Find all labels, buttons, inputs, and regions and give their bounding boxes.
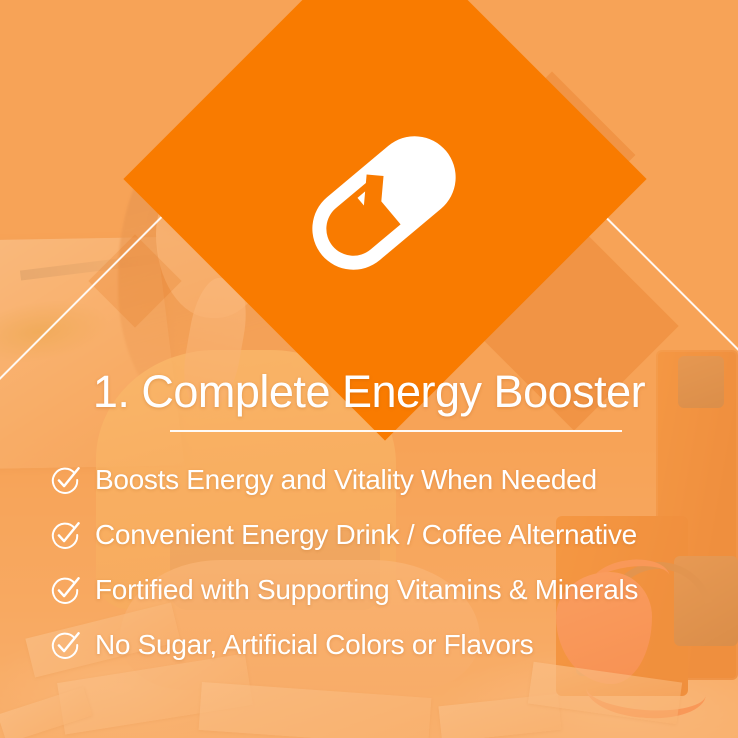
list-item-label: Boosts Energy and Vitality When Needed [95,464,597,496]
list-item: Fortified with Supporting Vitamins & Min… [50,562,718,617]
benefits-list: Boosts Energy and Vitality When Needed C… [50,452,718,672]
poster-content: 1. Complete Energy Booster Boosts Energy… [0,0,738,738]
list-item: Convenient Energy Drink / Coffee Alterna… [50,507,718,562]
list-item-label: Fortified with Supporting Vitamins & Min… [95,574,638,606]
promo-poster: 1. Complete Energy Booster Boosts Energy… [0,0,738,738]
check-circle-icon [50,630,80,660]
list-item: No Sugar, Artificial Colors or Flavors [50,617,718,672]
list-item: Boosts Energy and Vitality When Needed [50,452,718,507]
list-item-label: No Sugar, Artificial Colors or Flavors [95,629,533,661]
check-circle-icon [50,520,80,550]
page-title: 1. Complete Energy Booster [0,368,738,416]
check-circle-icon [50,465,80,495]
title-divider [170,430,622,432]
check-circle-icon [50,575,80,605]
list-item-label: Convenient Energy Drink / Coffee Alterna… [95,519,637,551]
